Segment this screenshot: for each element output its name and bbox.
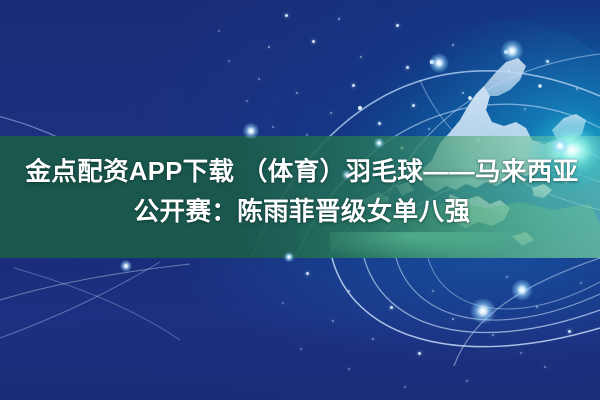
headline-line-2: 公开赛：陈雨菲晋级女单八强 bbox=[0, 192, 600, 232]
particle bbox=[282, 302, 284, 304]
particle bbox=[432, 290, 434, 292]
particle bbox=[372, 338, 374, 340]
particle bbox=[268, 46, 270, 48]
particle bbox=[258, 78, 260, 80]
particle bbox=[412, 104, 415, 107]
particle bbox=[296, 92, 298, 94]
particle bbox=[452, 44, 454, 46]
particle bbox=[390, 306, 393, 309]
particle bbox=[306, 134, 308, 136]
particle bbox=[378, 122, 381, 125]
particle bbox=[544, 366, 546, 368]
particle bbox=[524, 108, 526, 110]
particle bbox=[306, 272, 309, 275]
particle bbox=[580, 282, 582, 284]
particle bbox=[406, 66, 409, 69]
particle bbox=[348, 290, 350, 292]
particle bbox=[246, 100, 248, 102]
particle bbox=[568, 330, 571, 333]
particle bbox=[300, 348, 302, 350]
particle bbox=[285, 14, 288, 17]
particle bbox=[492, 334, 494, 336]
particle bbox=[312, 40, 315, 43]
particle bbox=[338, 18, 340, 20]
headline-line-1: 金点配资APP下载 （体育）羽毛球——马来西亚 bbox=[0, 152, 600, 192]
particle bbox=[218, 30, 220, 32]
particle bbox=[272, 126, 274, 128]
glow-node bbox=[508, 276, 536, 304]
particle bbox=[332, 320, 334, 322]
particle bbox=[348, 368, 350, 370]
particle bbox=[428, 128, 430, 130]
glow-node bbox=[282, 250, 296, 264]
particle bbox=[508, 70, 510, 72]
particle bbox=[360, 56, 362, 58]
particle bbox=[228, 60, 230, 62]
particle bbox=[462, 92, 464, 94]
glow-node bbox=[372, 136, 386, 150]
particle bbox=[546, 60, 549, 63]
particle bbox=[484, 120, 486, 122]
glow-node bbox=[118, 258, 134, 274]
headline: 金点配资APP下载 （体育）羽毛球——马来西亚 公开赛：陈雨菲晋级女单八强 bbox=[0, 152, 600, 232]
glow-node bbox=[240, 120, 262, 142]
particle bbox=[506, 276, 508, 278]
particle bbox=[536, 306, 538, 308]
particle bbox=[576, 88, 578, 90]
glow-node bbox=[466, 294, 500, 328]
bottom-panel bbox=[0, 258, 600, 400]
particle bbox=[404, 386, 406, 388]
particle bbox=[396, 24, 399, 27]
particle bbox=[520, 352, 522, 354]
particle bbox=[466, 380, 468, 382]
particle bbox=[352, 84, 355, 87]
particle bbox=[330, 112, 332, 114]
glow-node bbox=[426, 50, 452, 76]
banner-image: 金点配资APP下载 （体育）羽毛球——马来西亚 公开赛：陈雨菲晋级女单八强 bbox=[0, 0, 600, 400]
particle bbox=[452, 318, 454, 320]
particle bbox=[418, 352, 421, 355]
glow-node bbox=[497, 36, 527, 66]
